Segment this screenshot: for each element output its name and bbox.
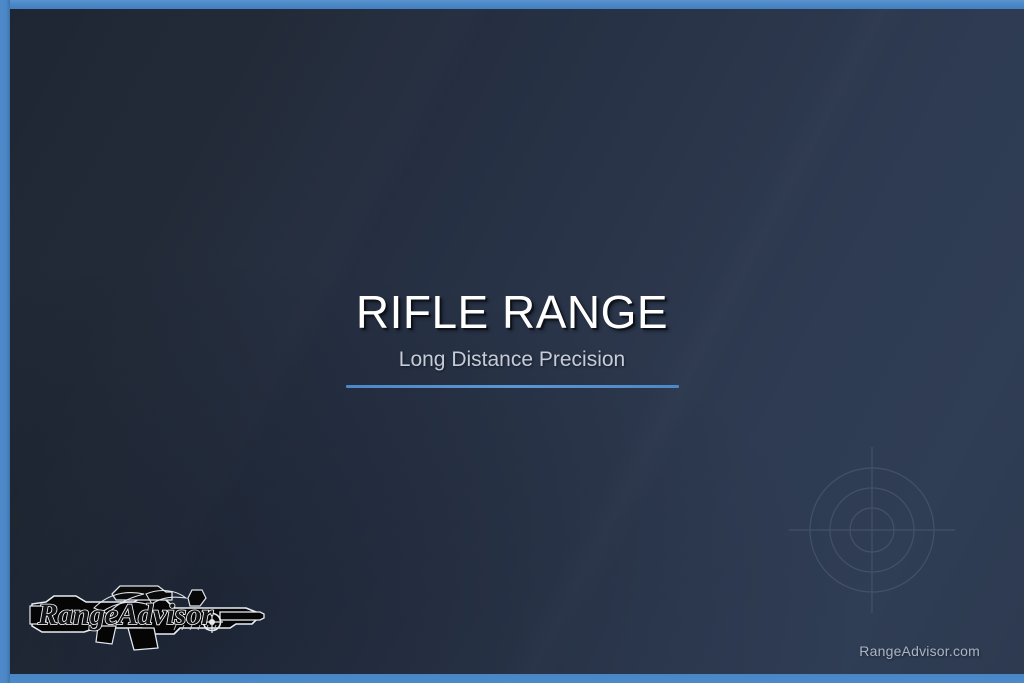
page-subtitle: Long Distance Precision — [0, 348, 1024, 371]
title-underline-rule — [346, 385, 679, 388]
title-block: RIFLE RANGE Long Distance Precision — [0, 288, 1024, 388]
brand-logo: RangeAdvisor — [24, 568, 266, 654]
presentation-slide: RIFLE RANGE Long Distance Precision — [0, 0, 1024, 683]
brand-logo-wordmark: RangeAdvisor — [37, 598, 213, 631]
slide-border-bottom — [0, 674, 1024, 683]
slide-border-top — [0, 0, 1024, 9]
site-watermark: RangeAdvisor.com — [859, 643, 980, 659]
page-title: RIFLE RANGE — [0, 288, 1024, 336]
slide-border-left — [0, 0, 10, 683]
